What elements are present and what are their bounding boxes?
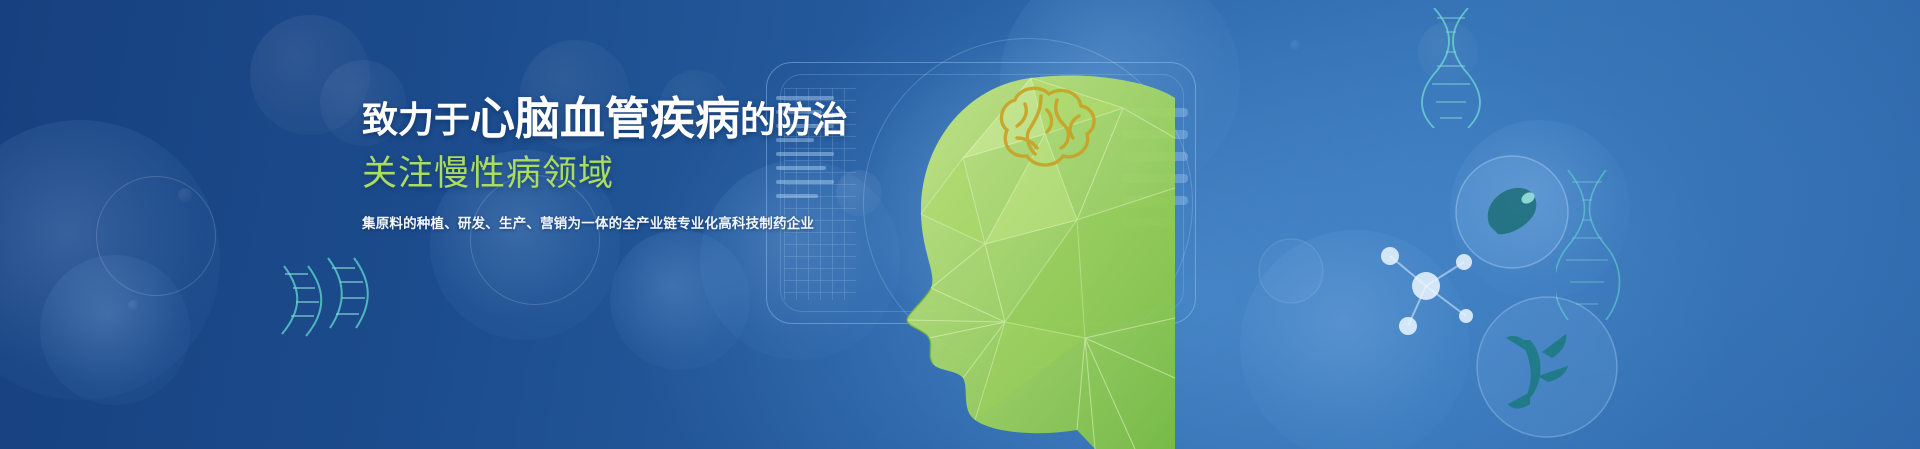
dna-helix-icon-2: [1420, 8, 1492, 128]
dna-helix-icon: [276, 256, 406, 342]
banner-copy: 致力于心脑血管疾病的防治 关注慢性病领域 集原料的种植、研发、生产、营销为一体的…: [362, 96, 1062, 231]
cell-icon-2: [1472, 292, 1622, 442]
cell-icon: [1452, 152, 1572, 272]
hero-banner: 致力于心脑血管疾病的防治 关注慢性病领域 集原料的种植、研发、生产、营销为一体的…: [0, 0, 1920, 449]
headline-emphasis: 心脑血管疾病: [470, 93, 740, 144]
cell-icon-3: [1256, 236, 1326, 306]
subline: 关注慢性病领域: [362, 156, 1062, 191]
headline-prefix: 致力于: [362, 99, 470, 140]
tagline: 集原料的种植、研发、生产、营销为一体的全产业链专业化高科技制药企业: [362, 217, 1062, 231]
headline-suffix: 的防治: [740, 99, 848, 140]
headline: 致力于心脑血管疾病的防治: [362, 96, 1062, 141]
